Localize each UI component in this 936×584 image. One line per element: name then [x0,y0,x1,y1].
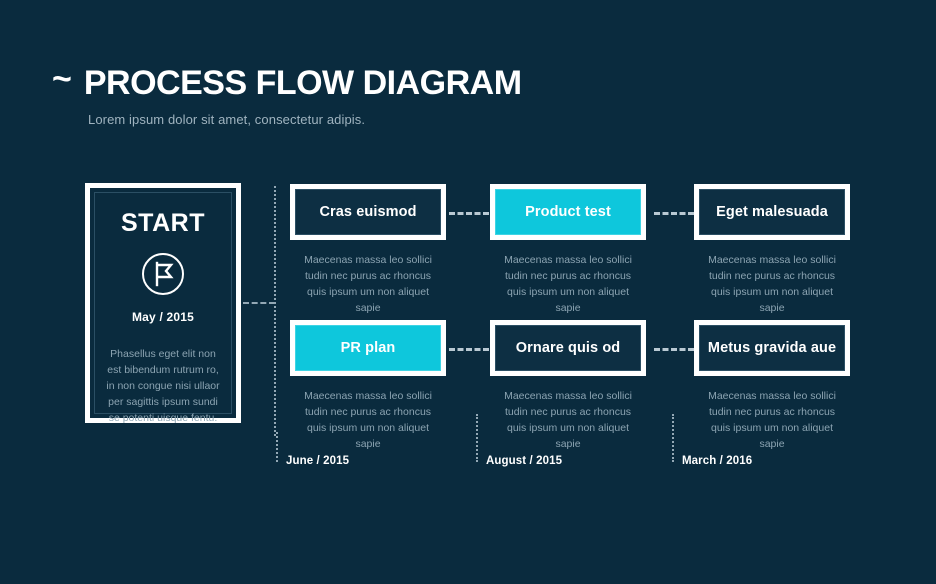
step-top-3-label: Eget malesuada [716,204,828,220]
start-date: May / 2015 [132,310,194,324]
step-bottom-3-label: Metus gravida aue [708,340,836,356]
connector-top-1-2 [449,212,489,215]
connector-bottom-2-3 [654,348,694,351]
step-top-3-box[interactable]: Eget malesuada [694,184,850,240]
tilde-accent-icon: ~ [52,62,72,96]
start-panel[interactable]: START May / 2015 Phasellus eget elit non… [85,183,241,423]
start-label: START [121,209,205,238]
flag-in-circle-icon [139,250,187,298]
step-bottom-2-box[interactable]: Ornare quis od [490,320,646,376]
step-top-1-label: Cras euismod [319,204,416,220]
date-caption-2: August / 2015 [486,455,562,467]
step-top-1-description: Maecenas massa leo sollici tudin nec pur… [290,252,446,316]
step-top-1-box-inner: Cras euismod [295,189,441,235]
step-top-1-box[interactable]: Cras euismod [290,184,446,240]
step-bottom-2-label: Ornare quis od [516,340,621,356]
page-header: ~ PROCESS FLOW DIAGRAM Lorem ipsum dolor… [52,66,522,127]
step-bottom-1-label: PR plan [341,340,396,356]
date-connector-3 [672,414,674,462]
date-caption-3: March / 2016 [682,455,752,467]
step-bottom-1[interactable]: PR plan Maecenas massa leo sollici tudin… [290,320,446,452]
start-panel-inner: START May / 2015 Phasellus eget elit non… [94,192,232,414]
step-bottom-3-description: Maecenas massa leo sollici tudin nec pur… [694,388,850,452]
step-top-1[interactable]: Cras euismod Maecenas massa leo sollici … [290,184,446,316]
title-row: ~ PROCESS FLOW DIAGRAM [52,66,522,100]
page-subtitle: Lorem ipsum dolor sit amet, consectetur … [88,112,522,127]
connector-bottom-1-2 [449,348,489,351]
date-caption-1: June / 2015 [286,455,349,467]
step-bottom-2-box-inner: Ornare quis od [495,325,641,371]
step-bottom-1-box-inner: PR plan [295,325,441,371]
step-top-3[interactable]: Eget malesuada Maecenas massa leo sollic… [694,184,850,316]
step-bottom-2[interactable]: Ornare quis od Maecenas massa leo sollic… [490,320,646,452]
start-to-spine-connector [243,302,275,304]
step-top-2-description: Maecenas massa leo sollici tudin nec pur… [490,252,646,316]
step-top-2-box-inner: Product test [495,189,641,235]
step-top-2-label: Product test [525,204,611,220]
step-top-2[interactable]: Product test Maecenas massa leo sollici … [490,184,646,316]
step-top-3-description: Maecenas massa leo sollici tudin nec pur… [694,252,850,316]
step-bottom-1-box[interactable]: PR plan [290,320,446,376]
date-connector-1 [276,432,278,462]
step-top-3-box-inner: Eget malesuada [699,189,845,235]
step-bottom-1-description: Maecenas massa leo sollici tudin nec pur… [290,388,446,452]
date-connector-2 [476,414,478,462]
step-bottom-3-box-inner: Metus gravida aue [699,325,845,371]
step-bottom-2-description: Maecenas massa leo sollici tudin nec pur… [490,388,646,452]
connector-top-2-3 [654,212,694,215]
step-bottom-3-box[interactable]: Metus gravida aue [694,320,850,376]
step-bottom-3[interactable]: Metus gravida aue Maecenas massa leo sol… [694,320,850,452]
start-body-text: Phasellus eget elit non est bibendum rut… [95,346,231,426]
vertical-spine-connector [274,186,276,436]
page-title: PROCESS FLOW DIAGRAM [84,66,522,100]
step-top-2-box[interactable]: Product test [490,184,646,240]
